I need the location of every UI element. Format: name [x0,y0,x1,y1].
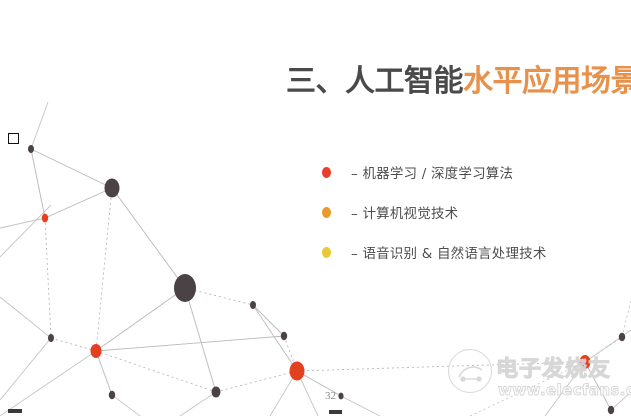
network-node [48,334,54,342]
network-node [281,332,287,340]
bullet-label-1: – 机器学习 / 深度学习算法 [351,162,513,182]
network-node [338,393,343,400]
bullet-dot-red [322,167,331,178]
slide-title: 三、人工智能水平应用场景 [286,67,631,97]
list-item: – 语音识别 & 自然语言处理技术 [322,232,622,272]
network-node [109,391,115,399]
network-node [290,362,305,381]
list-item: – 机器学习 / 深度学习算法 [322,152,622,192]
bullet-label-3: – 语音识别 & 自然语言处理技术 [351,242,547,262]
placeholder-square-marker [8,133,19,144]
network-node [250,301,256,309]
list-item: – 计算机视觉技术 [322,192,622,232]
page-number: 32 [325,390,336,402]
network-node [91,344,102,358]
network-node [105,179,120,198]
bullet-dot-yellow [322,247,331,258]
network-node [580,355,591,369]
network-node [619,333,625,341]
network-node [42,214,48,223]
decoration-bar-page-number [329,410,342,414]
network-node [174,274,196,302]
bullet-label-2: – 计算机视觉技术 [351,202,458,222]
decoration-bar-bottom-left [8,409,22,413]
title-accent-segment: 水平应用场景 [463,64,631,99]
network-node [212,387,221,398]
title-dark-segment: 三、人工智能 [286,64,463,99]
slide-canvas: 三、人工智能水平应用场景 – 机器学习 / 深度学习算法 – 计算机视觉技术 –… [0,0,631,416]
bullet-list: – 机器学习 / 深度学习算法 – 计算机视觉技术 – 语音识别 & 自然语言处… [322,152,622,272]
network-node [28,145,34,153]
bullet-dot-orange [322,207,331,218]
network-node [608,406,614,414]
